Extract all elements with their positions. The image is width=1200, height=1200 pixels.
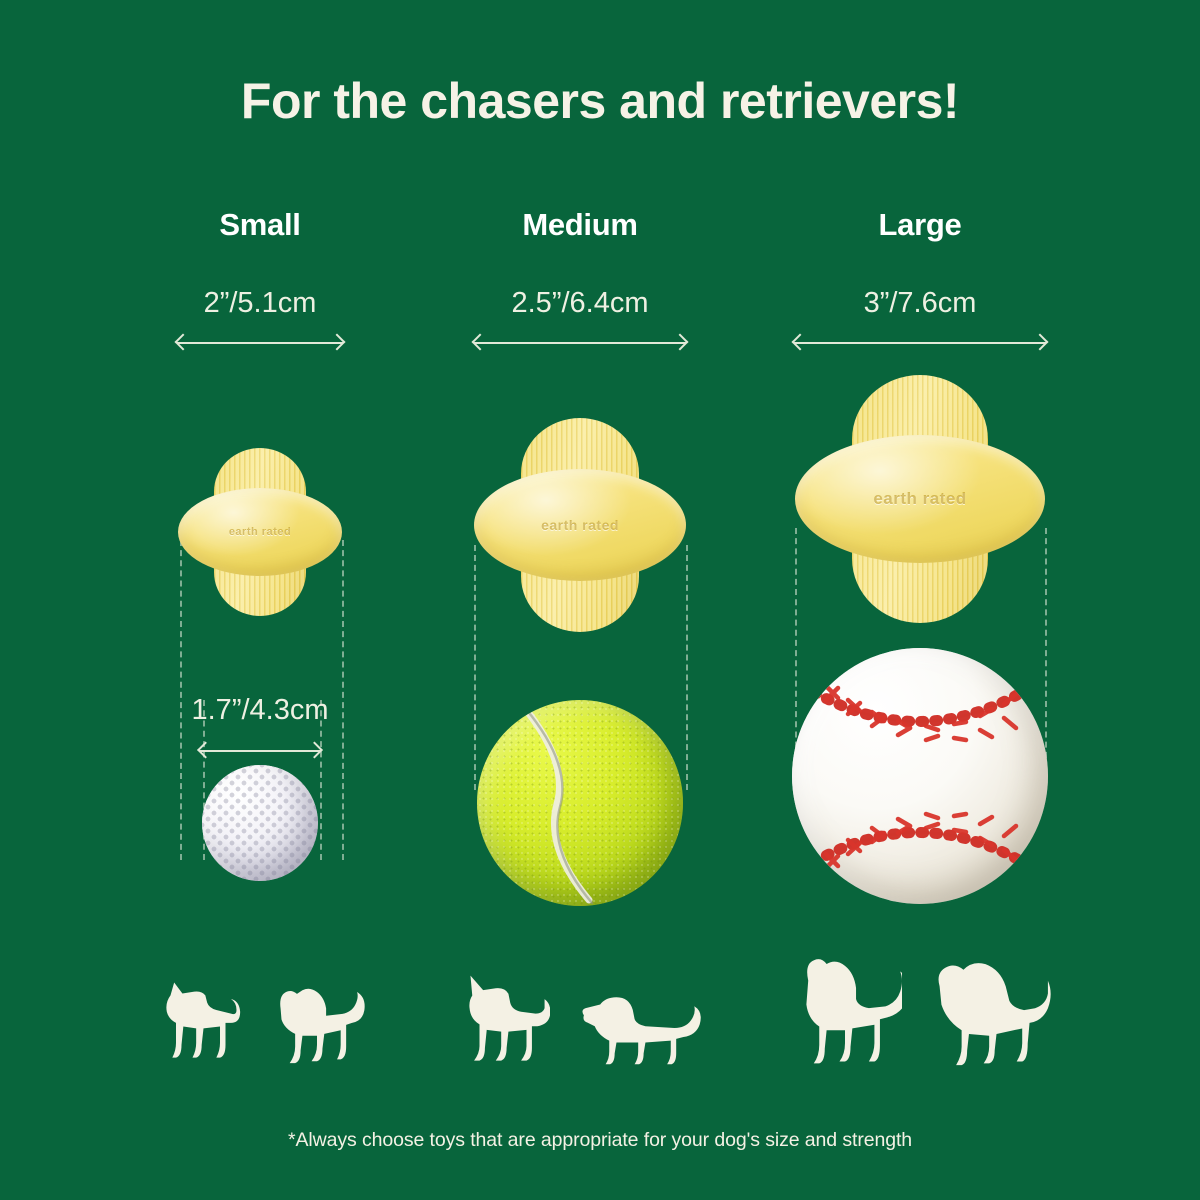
arrow-head-right-icon	[1032, 334, 1049, 351]
toy-measure-arrow-small	[177, 334, 343, 352]
golf-ball	[202, 765, 318, 881]
tennis-ball-seam	[477, 700, 683, 906]
arrow-head-right-icon	[672, 334, 689, 351]
toy-dimension-large: 3”/7.6cm	[740, 287, 1100, 320]
column-heading-medium: Medium	[400, 207, 760, 243]
guide-line-outer-right	[686, 545, 688, 790]
column-large: Large 3”/7.6cm earth rated	[740, 0, 1100, 1200]
toy-large: earth rated	[795, 375, 1045, 623]
dog-silhouettes-small	[152, 977, 368, 1065]
baseball-stitching	[792, 648, 1048, 904]
retriever-icon	[930, 955, 1052, 1067]
chihuahua-icon	[152, 977, 244, 1065]
column-small: Small 2”/5.1cm earth rated 1.7”/4.3cm	[80, 0, 440, 1200]
dog-silhouettes-medium	[456, 972, 704, 1066]
french-bulldog-icon	[456, 972, 550, 1066]
size-chart-page: For the chasers and retrievers! Small 2”…	[0, 0, 1200, 1200]
ball-dimension-small: 1.7”/4.3cm	[80, 694, 440, 727]
toy-small: earth rated	[178, 448, 342, 616]
arrow-head-left-icon	[197, 742, 214, 759]
toy-dimension-small: 2”/5.1cm	[80, 287, 440, 320]
toy-horizontal-lobe: earth rated	[474, 469, 686, 581]
dog-silhouettes-large	[788, 953, 1052, 1067]
toy-measure-arrow-large	[794, 334, 1046, 352]
toy-dimension-medium: 2.5”/6.4cm	[400, 287, 760, 320]
ball-measure-arrow-small	[200, 742, 321, 760]
toy-measure-arrow-medium	[474, 334, 686, 352]
arrow-head-left-icon	[472, 334, 489, 351]
arrow-line	[474, 342, 686, 344]
arrow-line	[200, 750, 321, 752]
arrow-head-right-icon	[329, 334, 346, 351]
toy-medium: earth rated	[474, 418, 686, 632]
baseball	[792, 648, 1048, 904]
column-heading-large: Large	[740, 207, 1100, 243]
toy-horizontal-lobe: earth rated	[795, 435, 1045, 563]
footnote: *Always choose toys that are appropriate…	[0, 1129, 1200, 1152]
toy-brand-text: earth rated	[229, 526, 291, 538]
arrow-head-left-icon	[175, 334, 192, 351]
tennis-ball	[477, 700, 683, 906]
toy-horizontal-lobe: earth rated	[178, 488, 342, 576]
terrier-icon	[266, 981, 368, 1065]
toy-brand-text: earth rated	[541, 517, 619, 533]
arrow-line	[177, 342, 343, 344]
dachshund-icon	[576, 990, 704, 1066]
toy-brand-text: earth rated	[873, 489, 966, 509]
arrow-head-right-icon	[306, 742, 323, 759]
arrow-head-left-icon	[792, 334, 809, 351]
arrow-line	[794, 342, 1046, 344]
column-medium: Medium 2.5”/6.4cm earth rated	[400, 0, 760, 1200]
column-heading-small: Small	[80, 207, 440, 243]
boxer-icon	[788, 953, 902, 1067]
